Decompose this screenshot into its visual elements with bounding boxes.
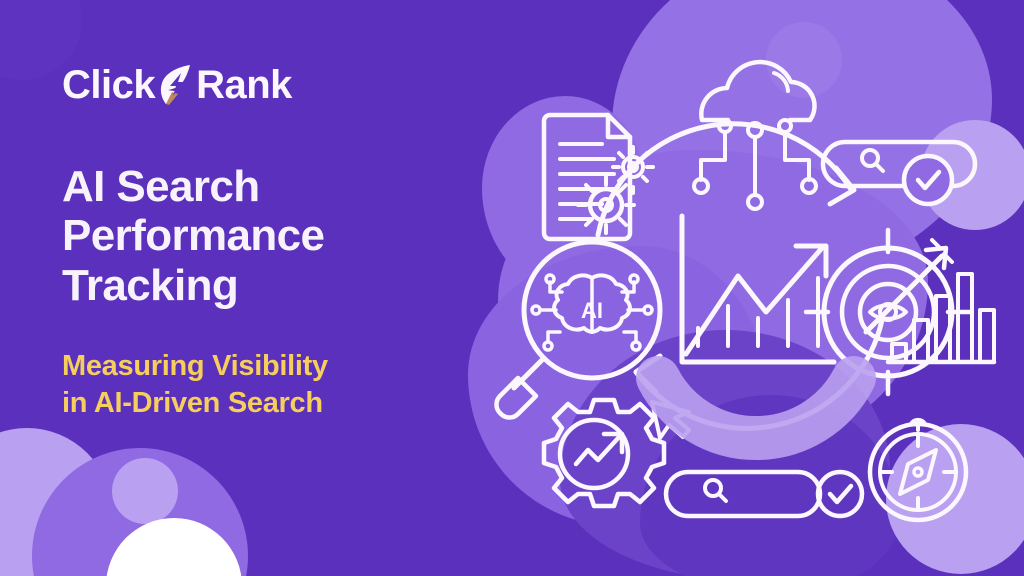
cloud-network-icon	[694, 62, 816, 209]
ai-badge-text: AI	[581, 298, 603, 323]
background-circle-white	[106, 518, 242, 576]
compass-icon	[870, 420, 966, 520]
subhead-line-2: in AI-Driven Search	[62, 385, 492, 422]
decorative-arc	[658, 378, 854, 438]
ai-brain-magnifier-icon	[496, 242, 660, 418]
brand-name-part1: Click	[62, 65, 155, 105]
brand-logo[interactable]: Click Rank	[62, 62, 292, 108]
page-title: AI Search Performance Tracking	[62, 162, 492, 310]
gear-trend-icon	[544, 400, 664, 506]
banner-canvas: Click Rank AI Search Performance Trackin…	[0, 0, 1024, 576]
check-circle-icon	[818, 472, 862, 516]
background-circle-3	[112, 458, 178, 524]
document-gears-icon	[544, 115, 653, 239]
background-circle-1	[0, 428, 112, 576]
subhead-line-1: Measuring Visibility	[62, 348, 492, 385]
background-circle-2	[32, 448, 248, 576]
ai-search-performance-illustration: AI	[470, 20, 1024, 556]
headline-line-2: Performance	[62, 211, 492, 260]
search-bar-icon	[666, 472, 820, 516]
target-eye-arrow-icon	[806, 230, 970, 394]
growth-chart-icon	[682, 216, 834, 362]
page-subtitle: Measuring Visibility in AI-Driven Search	[62, 348, 492, 422]
headline-line-1: AI Search	[62, 162, 492, 211]
leaf-bolt-icon	[157, 62, 195, 108]
headline-line-3: Tracking	[62, 261, 492, 310]
brand-name-part2: Rank	[196, 65, 292, 105]
